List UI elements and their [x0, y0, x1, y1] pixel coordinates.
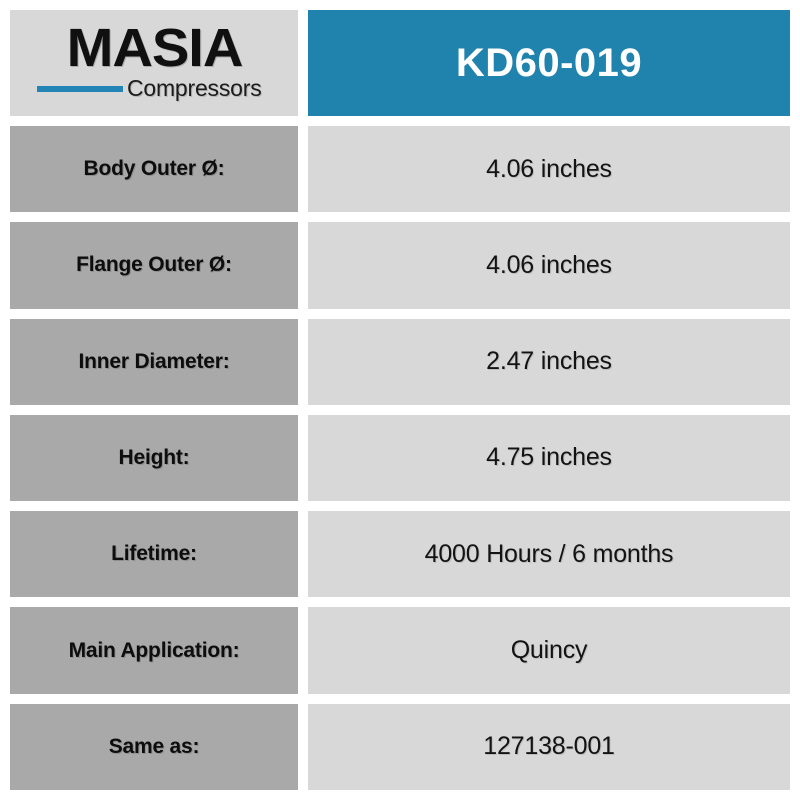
brand-logo: MASIA Compressors: [10, 10, 298, 116]
brand-tagline: Compressors: [127, 75, 262, 102]
table-row: Body Outer Ø: 4.06 inches: [10, 126, 790, 212]
spec-label-cell: Inner Diameter:: [10, 319, 298, 405]
spec-label: Height:: [119, 446, 190, 470]
spec-value: 127138-001: [483, 732, 614, 761]
spec-value: 2.47 inches: [486, 347, 612, 376]
spec-label-cell: Body Outer Ø:: [10, 126, 298, 212]
spec-value: 4.75 inches: [486, 443, 612, 472]
spec-label-cell: Same as:: [10, 704, 298, 790]
product-spec-sheet: MASIA Compressors KD60-019 Body Outer Ø:…: [0, 0, 800, 800]
spec-label: Body Outer Ø:: [84, 157, 225, 181]
spec-label-cell: Flange Outer Ø:: [10, 222, 298, 308]
spec-value-cell: 2.47 inches: [308, 319, 790, 405]
table-row: Height: 4.75 inches: [10, 415, 790, 501]
spec-value-cell: 4.06 inches: [308, 126, 790, 212]
product-model-number: KD60-019: [456, 41, 642, 86]
spec-label: Main Application:: [69, 639, 240, 663]
spec-value: 4000 Hours / 6 months: [425, 540, 674, 569]
spec-table: Body Outer Ø: 4.06 inches Flange Outer Ø…: [10, 126, 790, 790]
product-title-banner: KD60-019: [308, 10, 790, 116]
table-row: Flange Outer Ø: 4.06 inches: [10, 222, 790, 308]
table-row: Main Application: Quincy: [10, 607, 790, 693]
table-row: Lifetime: 4000 Hours / 6 months: [10, 511, 790, 597]
spec-label: Inner Diameter:: [78, 350, 229, 374]
brand-wordmark: MASIA: [66, 24, 242, 74]
spec-value-cell: 4.75 inches: [308, 415, 790, 501]
table-row: Inner Diameter: 2.47 inches: [10, 319, 790, 405]
table-row: Same as: 127138-001: [10, 704, 790, 790]
spec-label: Flange Outer Ø:: [76, 253, 232, 277]
spec-value: 4.06 inches: [486, 155, 612, 184]
spec-value: Quincy: [511, 636, 588, 665]
spec-label: Lifetime:: [111, 542, 197, 566]
brand-tagline-group: Compressors: [47, 75, 262, 102]
spec-value-cell: 4000 Hours / 6 months: [308, 511, 790, 597]
spec-label-cell: Main Application:: [10, 607, 298, 693]
spec-value-cell: Quincy: [308, 607, 790, 693]
spec-label-cell: Height:: [10, 415, 298, 501]
spec-value-cell: 4.06 inches: [308, 222, 790, 308]
header-row: MASIA Compressors KD60-019: [10, 10, 790, 116]
spec-label-cell: Lifetime:: [10, 511, 298, 597]
spec-value: 4.06 inches: [486, 251, 612, 280]
spec-label: Same as:: [109, 735, 200, 759]
spec-value-cell: 127138-001: [308, 704, 790, 790]
brand-accent-rule: [37, 86, 123, 92]
